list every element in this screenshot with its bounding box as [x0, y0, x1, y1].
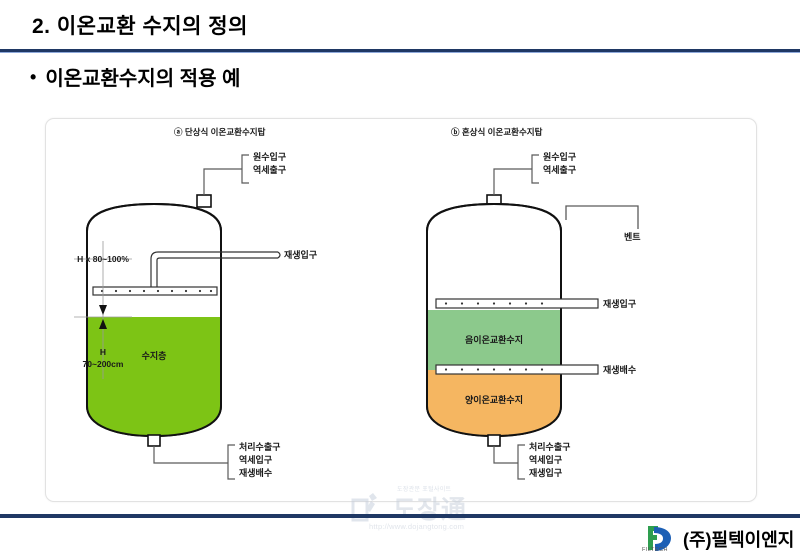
- vent-label: 벤트: [624, 231, 641, 242]
- left-dim-lower-label-2: 70~200cm: [83, 359, 124, 369]
- diagram-card: ⓐ 단상식 이온교환수지탑 원수입구 역세출구 수지층: [45, 118, 757, 502]
- watermark-url: http://www.dojangtong.com: [369, 522, 464, 531]
- left-distributor-header: [93, 287, 217, 295]
- right-top-leader: [494, 169, 532, 195]
- cation-bed-label: 양이온교환수지: [465, 394, 523, 405]
- left-bed-label: 수지층: [142, 350, 167, 361]
- right-top-label-1: 원수입구: [543, 151, 576, 162]
- page-title: 2. 이온교환 수지의 정의: [32, 10, 248, 40]
- left-top-bracket: [242, 155, 249, 183]
- left-top-label-1: 원수입구: [253, 151, 286, 162]
- vent-line: [566, 206, 638, 229]
- left-bottom-bracket: [228, 445, 235, 479]
- right-lower-distributor-label: 재생배수: [603, 364, 636, 375]
- left-bottom-leader: [154, 446, 228, 463]
- right-top-label-2: 역세출구: [543, 164, 576, 175]
- left-bottom-label-3: 재생배수: [239, 467, 272, 478]
- right-vessel-caption: ⓑ 혼상식 이온교환수지탑: [451, 127, 543, 137]
- right-top-bracket: [532, 155, 539, 183]
- left-bottom-label-1: 처리수출구: [239, 441, 280, 452]
- right-bottom-leader: [494, 446, 518, 463]
- left-top-nozzle: [197, 195, 211, 207]
- bullet-heading: •이온교환수지의 적용 예: [30, 62, 240, 91]
- left-regen-pipe-cap: [278, 252, 280, 258]
- left-vessel-caption: ⓐ 단상식 이온교환수지탑: [174, 127, 266, 137]
- left-resin-bed: [85, 317, 225, 439]
- right-bottom-bracket: [518, 445, 525, 479]
- right-upper-distributor-label: 재생입구: [603, 298, 636, 309]
- left-bottom-label-2: 역세입구: [239, 454, 272, 465]
- left-dim-upper-label: H x 80~100%: [77, 254, 129, 264]
- cation-resin-bed: [425, 370, 565, 440]
- right-vessel-group: ⓑ 혼상식 이온교환수지탑 원수입구 역세출구 벤트 음이온교환수지 양이온교환…: [425, 127, 641, 479]
- anion-bed-label: 음이온교환수지: [465, 334, 523, 345]
- left-vessel-group: ⓐ 단상식 이온교환수지탑 원수입구 역세출구 수지층: [74, 127, 317, 479]
- right-lower-distributor: [436, 365, 598, 374]
- filtech-logo-caption: FILTECH: [642, 547, 668, 553]
- left-top-leader: [204, 169, 242, 195]
- right-upper-distributor: [436, 299, 598, 308]
- bullet-marker: •: [30, 67, 36, 88]
- left-top-label-2: 역세출구: [253, 164, 286, 175]
- bullet-heading-label: 이온교환수지의 적용 예: [45, 68, 240, 90]
- right-bottom-nozzle: [488, 435, 500, 446]
- right-bottom-label-3: 재생입구: [529, 467, 562, 478]
- left-dim-lower-label-1: H: [100, 347, 106, 357]
- left-bottom-nozzle: [148, 435, 160, 446]
- footer-company-name: (주)필텍이엔지: [683, 526, 794, 552]
- title-divider-accent: [0, 52, 800, 53]
- right-bottom-label-1: 처리수출구: [529, 441, 570, 452]
- footer-divider: [0, 514, 800, 518]
- left-regen-inlet-label: 재생입구: [284, 249, 317, 260]
- right-bottom-label-2: 역세입구: [529, 454, 562, 465]
- ion-exchange-vessel-diagram: ⓐ 단상식 이온교환수지탑 원수입구 역세출구 수지층: [46, 119, 756, 501]
